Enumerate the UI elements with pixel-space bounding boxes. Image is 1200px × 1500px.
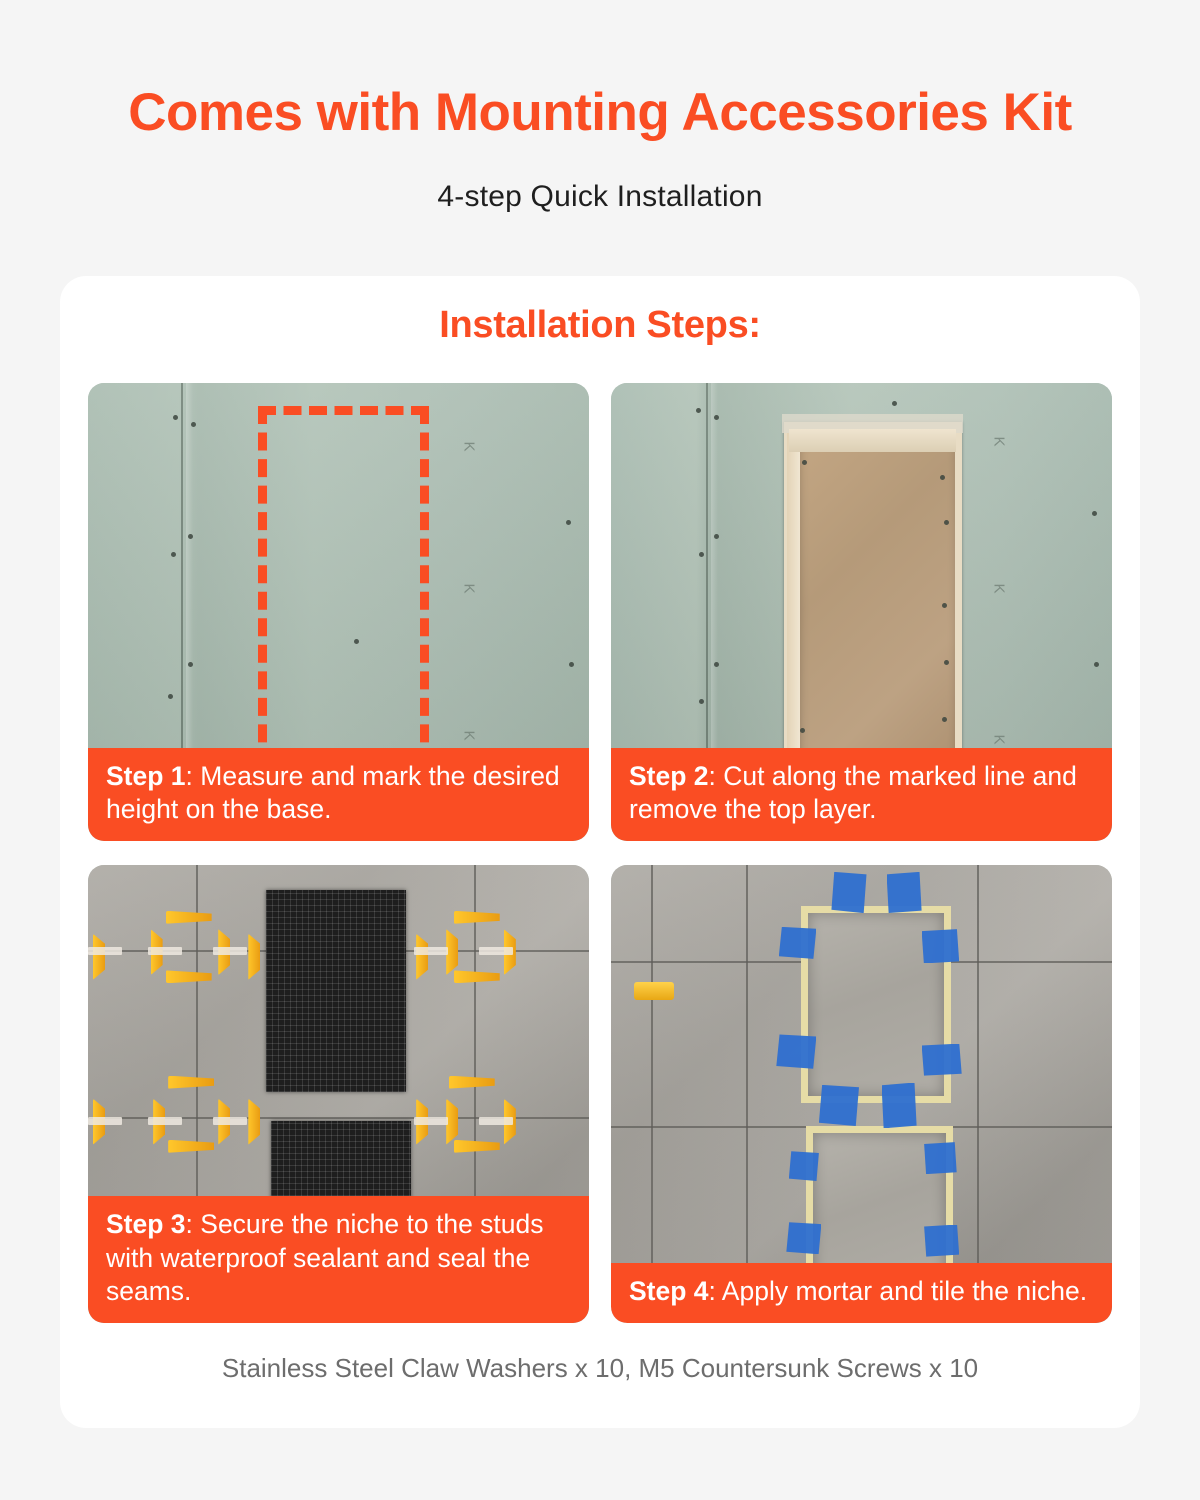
screw-dot	[191, 422, 196, 427]
wall-marking-icon: K	[460, 441, 477, 451]
step-card-3: Step 3: Secure the niche to the studs wi…	[88, 865, 589, 1323]
grout-line	[651, 865, 653, 1323]
painters-tape	[882, 1083, 917, 1129]
niche-mesh-panel-top	[266, 890, 406, 1092]
step-4-text: Apply mortar and tile the niche.	[716, 1276, 1087, 1306]
screw-dot	[802, 460, 807, 465]
painters-tape	[789, 1151, 819, 1181]
step-4-lead: Step 4	[629, 1276, 709, 1306]
wall-marking-icon: K	[460, 730, 477, 740]
wall-marking-icon: K	[991, 583, 1008, 593]
step-card-2: K K K Step 2	[611, 383, 1112, 841]
step-4-caption: Step 4: Apply mortar and tile the niche.	[611, 1263, 1112, 1323]
clip-strap	[213, 947, 247, 955]
painters-tape	[887, 872, 922, 913]
wall-marking-icon: K	[991, 437, 1008, 447]
step-4-separator: :	[709, 1276, 716, 1306]
painters-tape	[831, 872, 866, 913]
step-4-photo	[611, 865, 1112, 1323]
accessories-footnote: Stainless Steel Claw Washers x 10, M5 Co…	[60, 1353, 1140, 1384]
clip-strap	[414, 1117, 448, 1125]
steps-grid: K K K Step 1: Measure and mark the desir…	[88, 383, 1112, 1323]
page-title: Comes with Mounting Accessories Kit	[0, 84, 1200, 142]
card-title: Installation Steps:	[60, 276, 1140, 347]
opening-left-jamb	[787, 433, 799, 788]
grout-line	[746, 865, 748, 1323]
painters-tape	[924, 1225, 959, 1257]
step-card-4: Step 4: Apply mortar and tile the niche.	[611, 865, 1112, 1323]
screw-dot	[892, 401, 897, 406]
painters-tape	[776, 1034, 816, 1068]
screw-dot	[942, 717, 947, 722]
painters-tape	[786, 1222, 821, 1254]
step-2-separator: :	[709, 761, 716, 791]
clip-strap	[213, 1117, 247, 1125]
screw-dot	[699, 699, 704, 704]
wall-marking-icon: K	[991, 735, 1008, 745]
installation-card: Installation Steps: K K K	[60, 276, 1140, 1428]
screw-dot	[800, 728, 805, 733]
painters-tape	[924, 1142, 957, 1174]
step-1-lead: Step 1	[106, 761, 186, 791]
painters-tape	[819, 1085, 859, 1126]
painters-tape	[922, 929, 960, 963]
wall-marking-icon: K	[460, 583, 477, 593]
clip-strap	[479, 1117, 513, 1125]
grout-line	[977, 865, 979, 1323]
opening-top-jamb	[789, 429, 956, 452]
clip-strap	[88, 947, 122, 955]
painters-tape	[922, 1044, 962, 1076]
step-3-lead: Step 3	[106, 1209, 186, 1239]
screw-dot	[714, 415, 719, 420]
step-3-caption: Step 3: Secure the niche to the studs wi…	[88, 1196, 589, 1323]
painters-tape	[779, 927, 817, 959]
opening-back-panel	[796, 439, 954, 785]
screw-dot	[944, 660, 949, 665]
page-subtitle: 4-step Quick Installation	[0, 142, 1200, 214]
step-2-lead: Step 2	[629, 761, 709, 791]
step-1-caption: Step 1: Measure and mark the desired hei…	[88, 748, 589, 841]
step-3-separator: :	[186, 1209, 193, 1239]
screw-dot	[714, 534, 719, 539]
yellow-spacer	[634, 982, 674, 1000]
clip-strap	[479, 947, 513, 955]
step-card-1: K K K Step 1: Measure and mark the desir…	[88, 383, 589, 841]
step-2-caption: Step 2: Cut along the marked line and re…	[611, 748, 1112, 841]
page-header: Comes with Mounting Accessories Kit 4-st…	[0, 0, 1200, 214]
clip-strap	[148, 947, 182, 955]
clip-strap	[88, 1117, 122, 1125]
clip-strap	[414, 947, 448, 955]
clip-strap	[148, 1117, 182, 1125]
cut-opening	[784, 422, 962, 800]
step-1-separator: :	[186, 761, 193, 791]
